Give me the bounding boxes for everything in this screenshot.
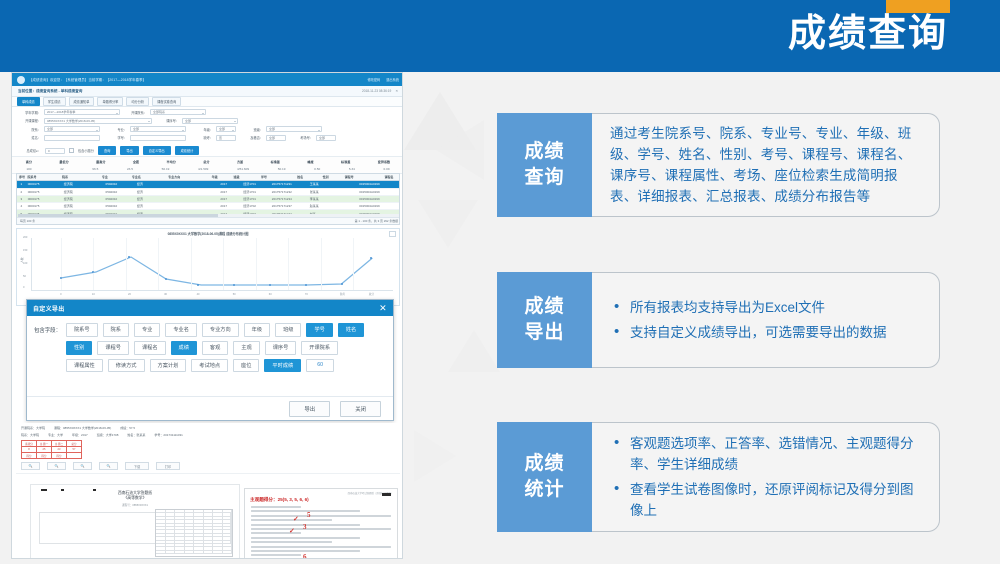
answer-sheet-viewer: 西南石油大学答题纸 《高等数学》 课程号：0855X0XXX1 [16,473,400,559]
card-tab-score-export: 成绩 导出 [497,272,592,368]
field-tag-course-no[interactable]: 课程号 [97,341,129,355]
summary-values: 100 42 96.5 23.5 50.19 4/1.509 4/51.609 … [12,165,403,173]
cell-class: 经济1701 [241,197,270,201]
cell-major: 0502010 [104,204,135,208]
graded-paper-image[interactable]: 西南石油大学考试答题纸（评阅标记还原） 主观题得分：25(5, 3, 5, 6,… [244,488,398,559]
grading-check-icon: ✓ [293,515,299,523]
tab-score-notice[interactable]: 成绩通知单 [69,97,95,107]
summary-header: 标准差 [271,159,280,164]
card-tab-line2: 统计 [524,477,564,503]
info-card-score-statistics: 成绩 统计 客观题选项率、正答率、选错情况、主观题得分率、学生详细成绩 查看学生… [497,422,940,532]
score-distribution-chart: 0855X0XXX1 大学数学(2018-06-05)课程 成绩分布统计图 人数… [16,228,400,306]
form-row: 开课课程： 0855X0XXX1 大学数学(2018-06-05) 课序号： 全… [17,118,399,125]
grading-check-icon: ✓ [289,527,295,535]
field-tag-major-name[interactable]: 专业名 [165,323,197,337]
export-button[interactable]: 导出 [120,146,138,154]
graded-paper-header-note: 西南石油大学考试答题纸（评阅标记还原） [245,489,397,497]
summary-header: 最低分 [59,159,68,164]
field-label-room: 考场号： [289,135,313,140]
query-actions: 总成绩≥： 0 包含小题分 查询 导出 自定义导出 成绩统计 [12,145,403,156]
summary-header: 方差 [237,159,243,164]
cell-no: 4 [17,204,26,208]
cell-studentid: 201757171232 [270,190,308,194]
table-row[interactable]: 2 0000175 经济院 0502010 经济 2017 经济1701 201… [17,189,399,196]
detail-line-1: 开课院系：大学院 课程：0855X0XXX1 大学数学(2018-06-05) … [21,426,395,430]
info-card-score-export: 成绩 导出 所有报表均支持导出为Excel文件 支持自定义成绩导出，可选需要导出… [497,272,940,368]
score-table-label-row: 得分 得分 得分 [22,453,81,458]
page-banner: 成绩查询 [0,0,1000,67]
card-tab-line2: 导出 [524,320,564,346]
card-paragraph: 通过考生院系号、院系、专业号、专业、年级、班级、学号、姓名、性别、考号、课程号、… [610,123,923,207]
field-label-total-score: 总成绩≥： [17,148,41,153]
summary-header: 高分 [26,159,32,164]
cell-dept: 经济院 [62,204,104,208]
score-statistics-button[interactable]: 成绩统计 [175,146,200,154]
y-tick: 150 [23,249,27,252]
cell-dept: 经济院 [62,182,104,186]
summary-header: 最高分 [96,159,105,164]
close-icon[interactable]: ✕ [379,304,387,313]
detail-name: 姓名：张某某 [127,433,145,437]
summary-stats: 高分 最低分 最高分 全距 平均分 总分 方差 标准差 峰度 标准差 变异系数 … [12,156,403,174]
score-breakdown-table: 客观分 主.题一 主.题二 总分 8 25 23 57 得分 得分 得分 [21,440,82,459]
card-body-score-query: 通过考生院系号、院系、专业号、专业、年级、班级、学号、姓名、性别、考号、课程号、… [592,113,940,217]
include-subscore-label: 包含小题分 [78,148,94,153]
field-term-select[interactable]: 2017—2018学年春季 [44,109,120,115]
field-total-score-input[interactable]: 0 [45,148,65,154]
close-icon[interactable]: ✕ [395,89,398,93]
cell-studentid: 201757171237 [270,204,308,208]
cell-studentid: 201757171231 [270,182,308,186]
dialog-title: 自定义导出 [33,304,65,313]
results-table: 序号 院系号 院系 专业 专业名 专业方向 年级 班级 学号 姓名 性别 课程号… [16,173,400,225]
field-absent-input[interactable]: 否 [216,135,236,141]
card-tab-score-statistics: 成绩 统计 [497,422,592,532]
field-tag-objective[interactable]: 客观 [202,341,228,355]
cell-name: 李某某 [308,197,335,201]
field-tag-studentid[interactable]: 学号 [306,323,332,337]
include-subscore-checkbox[interactable] [69,148,74,153]
card-body-score-export: 所有报表均支持导出为Excel文件 支持自定义成绩导出，可选需要导出的数据 [592,272,940,368]
field-college-select[interactable]: 全部 [44,126,100,132]
field-tag-dept-no[interactable]: 院系号 [66,323,98,337]
application-screenshot: 【成绩查询】欢迎您：【系统管理员】当前学期：【2017—2018学年春季】 修改… [11,72,403,559]
y-tick: 100 [23,262,27,265]
summary-value: 4/51.609 [237,167,249,171]
field-tag-grade[interactable]: 年级 [244,323,270,337]
chart-plot-area: 200 150 100 50 0 010 2030 4050 [31,238,393,291]
dialog-body: 包含字段： 院系号 院系 专业 专业名 专业方向 年级 班级 学号 姓名 性别 … [27,316,393,372]
detail-studentid: 学号：201731111031 [154,433,182,437]
breadcrumb-right: 2018-11-23 08:36:19 ✕ [362,89,398,93]
student-detail-panel: 开课院系：大学院 课程：0855X0XXX1 大学数学(2018-06-05) … [16,423,400,471]
summary-headers: 高分 最低分 最高分 全距 平均分 总分 方差 标准差 峰度 标准差 变异系数 [12,157,403,165]
card-bullet: 支持自定义成绩导出，可选需要导出的数据 [610,322,923,343]
field-tag-list: 院系号 院系 专业 专业名 专业方向 年级 班级 学号 姓名 性别 课程号 课程… [66,323,366,372]
detail-class: 班级：大学1708 [97,433,119,437]
tab-bar: 单科成绩 学生成绩 成绩通知单 单题得分率 均分分析 课程试卷查询 [12,97,403,107]
cell-course-no: 0015004A0199 [357,182,399,186]
summary-header: 全距 [133,159,139,164]
col-dept: 院系 [60,175,100,179]
card-tab-line1: 成绩 [524,451,564,477]
cell-grade: 2017 [218,182,241,186]
field-tag-course-name[interactable]: 课程名 [134,341,166,355]
col-major-name: 专业名 [130,175,166,179]
breadcrumb-text: 当前位置：成绩查询系统 - 单科成绩查询 [18,89,82,94]
field-label-class: 班级： [239,127,263,132]
cell-major-name: 经济 [135,204,173,208]
hamburger-icon[interactable] [389,231,396,237]
table-row[interactable]: 1 0000175 经济院 0502010 经济 2017 经济1701 201… [17,181,399,188]
field-tag-usual-score[interactable]: 平时成绩 [264,359,301,373]
detail-course: 课程：0855X0XXX1 大学数学(2018-06-05) [54,426,111,430]
card-bullet-list: 客观题选项率、正答率、选错情况、主观题得分率、学生详细成绩 查看学生试卷图像时，… [610,429,923,525]
page-title: 成绩查询 [788,12,948,56]
field-course-select[interactable]: 0855X0XXX1 大学数学(2018-06-05) [44,118,152,124]
y-tick: 0 [23,286,24,289]
cell-course-no: 0015004A0199 [357,204,399,208]
cell-name: 王某某 [308,182,335,186]
summary-value: 4/1.509 [198,167,208,171]
field-department-select[interactable]: 全部院系 [150,109,206,115]
cell-class: 经济1701 [241,182,270,186]
field-course-seq-select[interactable]: 全部 [182,118,238,124]
image-toolbar: 🔍 🔍 🔍 🔍 下载 打印 [21,462,395,470]
field-tag-course-seq[interactable]: 课序号 [265,341,297,355]
cell-dept-no: 0000175 [26,182,62,186]
graded-paper-content [245,503,397,559]
tab-question-score-rate[interactable]: 单题得分率 [97,97,123,107]
score-lbl-2: 得分 [37,453,52,458]
col-course-no: 课程号 [343,175,383,179]
summary-value: 0.50 [314,167,320,171]
summary-value: 50.19 [162,167,170,171]
sheet-title-line1: 西南石油大学答题纸 [118,491,152,495]
score-lbl-4 [67,453,81,458]
field-label-major: 专业： [103,127,127,132]
field-tag-plan[interactable]: 方案计划 [150,359,187,373]
summary-value: 42 [60,167,63,171]
registration-mark-icon [382,493,391,496]
summary-header: 变异系数 [378,159,390,164]
field-class-select[interactable]: 全部 [266,126,322,132]
watermark-triangle-icon [448,330,500,372]
field-grade-select[interactable]: 全部 [216,126,236,132]
field-label-name: 姓名： [17,135,41,140]
col-course-name: 课程名 [382,175,399,179]
summary-header: 平均分 [167,159,176,164]
detail-line-2: 院系：大学院 专业：大学 年级：2017 班级：大学1708 姓名：张某某 学号… [21,433,395,437]
watermark-triangle-icon [436,120,484,180]
watermark-triangle-icon [418,200,478,248]
cell-grade: 2017 [218,197,241,201]
cell-major: 0502010 [104,182,135,186]
field-room-input[interactable]: 全部 [316,135,336,141]
col-gender: 性别 [321,175,343,179]
cell-major: 0502010 [104,190,135,194]
cell-studentid: 201757171234 [270,197,308,201]
grading-mark-score: 5 [307,511,311,519]
score-lbl-1: 得分 [22,453,37,458]
field-tag-dept[interactable]: 院系 [103,323,129,337]
field-tag-offering-dept[interactable]: 开课院系 [301,341,338,355]
field-tag-study-mode[interactable]: 修读方式 [108,359,145,373]
tab-single-course-score[interactable]: 单科成绩 [17,97,40,107]
summary-header: 标准差 [341,159,350,164]
field-tag-threshold[interactable]: 60 [306,359,334,373]
field-label-studentid: 学号： [103,135,127,140]
summary-header: 峰度 [307,159,313,164]
dialog-close-button[interactable]: 关闭 [340,401,381,417]
form-row: 院系： 全部 专业： 全部 年级： 全部 班级： 全部 [17,126,399,133]
record-count-label: 第 1 - 100 条，共 3 页 292 条数据 [355,219,398,223]
query-button[interactable]: 查询 [98,146,116,154]
score-lbl-3: 得分 [52,453,67,458]
chart-title: 0855X0XXX1 大学数学(2018-06-05)课程 成绩分布统计图 [17,229,399,236]
card-bullet: 客观题选项率、正答率、选错情况、主观题得分率、学生详细成绩 [610,433,923,475]
tab-student-score[interactable]: 学生成绩 [43,97,66,107]
answer-sheet-title: 西南石油大学答题纸 《高等数学》 [31,491,239,501]
print-button[interactable]: 打印 [156,462,180,470]
field-tag-seat[interactable]: 座位 [233,359,259,373]
col-grade: 年级 [210,175,232,179]
col-name: 姓名 [295,175,321,179]
cell-dept: 经济院 [62,197,104,201]
include-fields-label: 包含字段： [34,323,61,372]
summary-value: 100 [26,167,31,171]
dialog-footer: 导出 关闭 [27,396,393,420]
timestamp: 2018-11-23 08:36:19 [362,89,391,93]
summary-value: 23.5 [127,167,133,171]
fit-icon[interactable]: 🔍 [99,462,118,470]
summary-value: 96.5 [92,167,98,171]
omr-bubble-grid [155,509,233,557]
cell-name: 赵某某 [308,204,335,208]
query-form: 学年学期： 2017—2018学年春季 开课院系： 全部院系 开课课程： 085… [12,107,403,145]
breadcrumb: 当前位置：成绩查询系统 - 单科成绩查询 2018-11-23 08:36:19… [12,86,403,97]
field-tag-gender[interactable]: 性别 [66,341,92,355]
answer-sheet-page[interactable]: 西南石油大学答题纸 《高等数学》 课程号：0855X0XXX1 [30,484,240,559]
cell-dept-no: 0000175 [26,190,62,194]
grading-mark-score: 6 [303,553,307,559]
tab-course-paper-query[interactable]: 课程试卷查询 [152,97,181,107]
col-dept-no: 院系号 [25,175,59,179]
y-tick: 200 [23,236,27,239]
zoom-in-icon[interactable]: 🔍 [21,462,40,470]
field-tag-subjective[interactable]: 主观 [233,341,259,355]
card-bullet: 所有报表均支持导出为Excel文件 [610,297,923,318]
field-pass-input[interactable]: 全部 [266,135,286,141]
dialog-export-button[interactable]: 导出 [289,401,330,417]
app-topbar: 【成绩查询】欢迎您：【系统管理员】当前学期：【2017—2018学年春季】 修改… [12,73,403,86]
cell-course-no: 0015004A0199 [357,190,399,194]
cell-no: 1 [17,182,26,186]
download-button[interactable]: 下载 [125,462,149,470]
answer-sheet-course-code: 课程号：0855X0XXX1 [31,503,239,507]
cell-dept: 经济院 [62,190,104,194]
app-title: 【成绩查询】欢迎您：【系统管理员】当前学期：【2017—2018学年春季】 [29,77,146,82]
page-size-label[interactable]: 每页 100 条 [20,219,35,223]
field-tag-course-attr[interactable]: 课程属性 [66,359,103,373]
card-tab-line1: 成绩 [524,139,564,165]
col-class: 班级 [232,175,259,179]
change-password-link[interactable]: 修改密码 [368,77,381,82]
watermark-triangle-icon [414,430,456,482]
app-logo-icon [17,76,25,84]
cell-major-name: 经济 [135,190,173,194]
field-label-term: 学年学期： [17,110,41,115]
summary-value: 5.34 [349,167,355,171]
field-label-absent: 缺考： [189,135,213,140]
custom-export-dialog: 自定义导出 ✕ 包含字段： 院系号 院系 专业 专业名 专业方向 年级 班级 学… [26,299,394,421]
form-row: 姓名： 学号： 缺考： 否 及格否： 全部 考场号： 全部 [17,135,399,142]
field-studentid-input[interactable] [130,135,186,141]
card-tab-score-query: 成绩 查询 [497,113,592,217]
field-tag-score[interactable]: 成绩 [171,341,197,355]
dialog-header: 自定义导出 ✕ [27,300,393,316]
field-tag-major[interactable]: 专业 [134,323,160,337]
cell-class: 经济1702 [241,204,270,208]
card-body-score-statistics: 客观题选项率、正答率、选错情况、主观题得分率、学生详细成绩 查看学生试卷图像时，… [592,422,940,532]
cell-major-name: 经济 [135,182,173,186]
col-major: 专业 [100,175,130,179]
detail-dept: 院系：大学院 [21,433,39,437]
custom-export-button[interactable]: 自定义导出 [143,146,171,154]
col-no: 序号 [17,175,25,179]
field-name-input[interactable] [44,135,100,141]
card-tab-line1: 成绩 [524,294,564,320]
cell-major-name: 经济 [135,197,173,201]
summary-value: 0.09 [384,167,390,171]
card-tab-line2: 查询 [524,165,564,191]
zoom-out-icon[interactable]: 🔍 [47,462,66,470]
field-tag-exam-place[interactable]: 考试地点 [191,359,228,373]
field-major-select[interactable]: 全部 [130,126,186,132]
cell-dept-no: 0000175 [26,204,62,208]
field-tag-class[interactable]: 班级 [275,323,301,337]
cell-class: 经济1701 [241,190,270,194]
card-bullet-list: 所有报表均支持导出为Excel文件 支持自定义成绩导出，可选需要导出的数据 [610,293,923,347]
field-label-grade: 年级： [189,127,213,132]
detail-score: 成绩：57.5 [120,426,135,430]
cell-grade: 2017 [218,190,241,194]
col-studentid: 学号 [259,175,295,179]
col-major-dir: 专业方向 [166,175,209,179]
grading-mark-score: 3 [303,523,307,531]
detail-major: 专业：大学 [48,433,63,437]
app-topbar-actions: 修改密码 退出系统 [368,77,400,82]
field-label-pass: 及格否： [239,135,263,140]
logout-link[interactable]: 退出系统 [386,77,399,82]
cell-no: 3 [17,197,26,201]
cell-name: 张某某 [308,190,335,194]
summary-value: 50.19 [278,167,286,171]
sheet-title-line2: 《高等数学》 [124,496,147,500]
table-pagination: 每页 100 条 第 1 - 100 条，共 3 页 292 条数据 [17,217,400,224]
table-row[interactable]: 3 0000175 经济院 0502010 经济 2017 经济1701 201… [17,196,399,203]
field-label-college: 院系： [17,127,41,132]
card-bullet: 查看学生试卷图像时，还原评阅标记及得分到图像上 [610,479,923,521]
cell-dept-no: 0000175 [26,197,62,201]
info-card-score-query: 成绩 查询 通过考生院系号、院系、专业号、专业、年级、班级、学号、姓名、性别、考… [497,113,940,217]
table-row[interactable]: 4 0000175 经济院 0502010 经济 2017 经济1702 201… [17,203,399,210]
cell-grade: 2017 [218,204,241,208]
rotate-icon[interactable]: 🔍 [73,462,92,470]
field-label-department: 开课院系： [123,110,147,115]
summary-header: 总分 [203,159,209,164]
y-tick: 50 [23,275,26,278]
grading-check-icon: ✓ [291,557,297,559]
cell-major: 0502010 [104,197,135,201]
cell-course-no: 0015004A0199 [357,197,399,201]
detail-grade: 年级：2017 [72,433,88,437]
tab-average-analysis[interactable]: 均分分析 [126,97,149,107]
detail-offering-dept: 开课院系：大学院 [21,426,45,430]
field-tag-name[interactable]: 姓名 [338,323,364,337]
field-label-course-seq: 课序号： [155,118,179,123]
table-header-row: 序号 院系号 院系 专业 专业名 专业方向 年级 班级 学号 姓名 性别 课程号… [17,174,399,181]
field-label-course: 开课课程： [17,118,41,123]
form-row: 学年学期： 2017—2018学年春季 开课院系： 全部院系 [17,109,399,116]
field-tag-major-dir[interactable]: 专业方向 [202,323,239,337]
chart-line [32,238,393,290]
cell-no: 2 [17,190,26,194]
